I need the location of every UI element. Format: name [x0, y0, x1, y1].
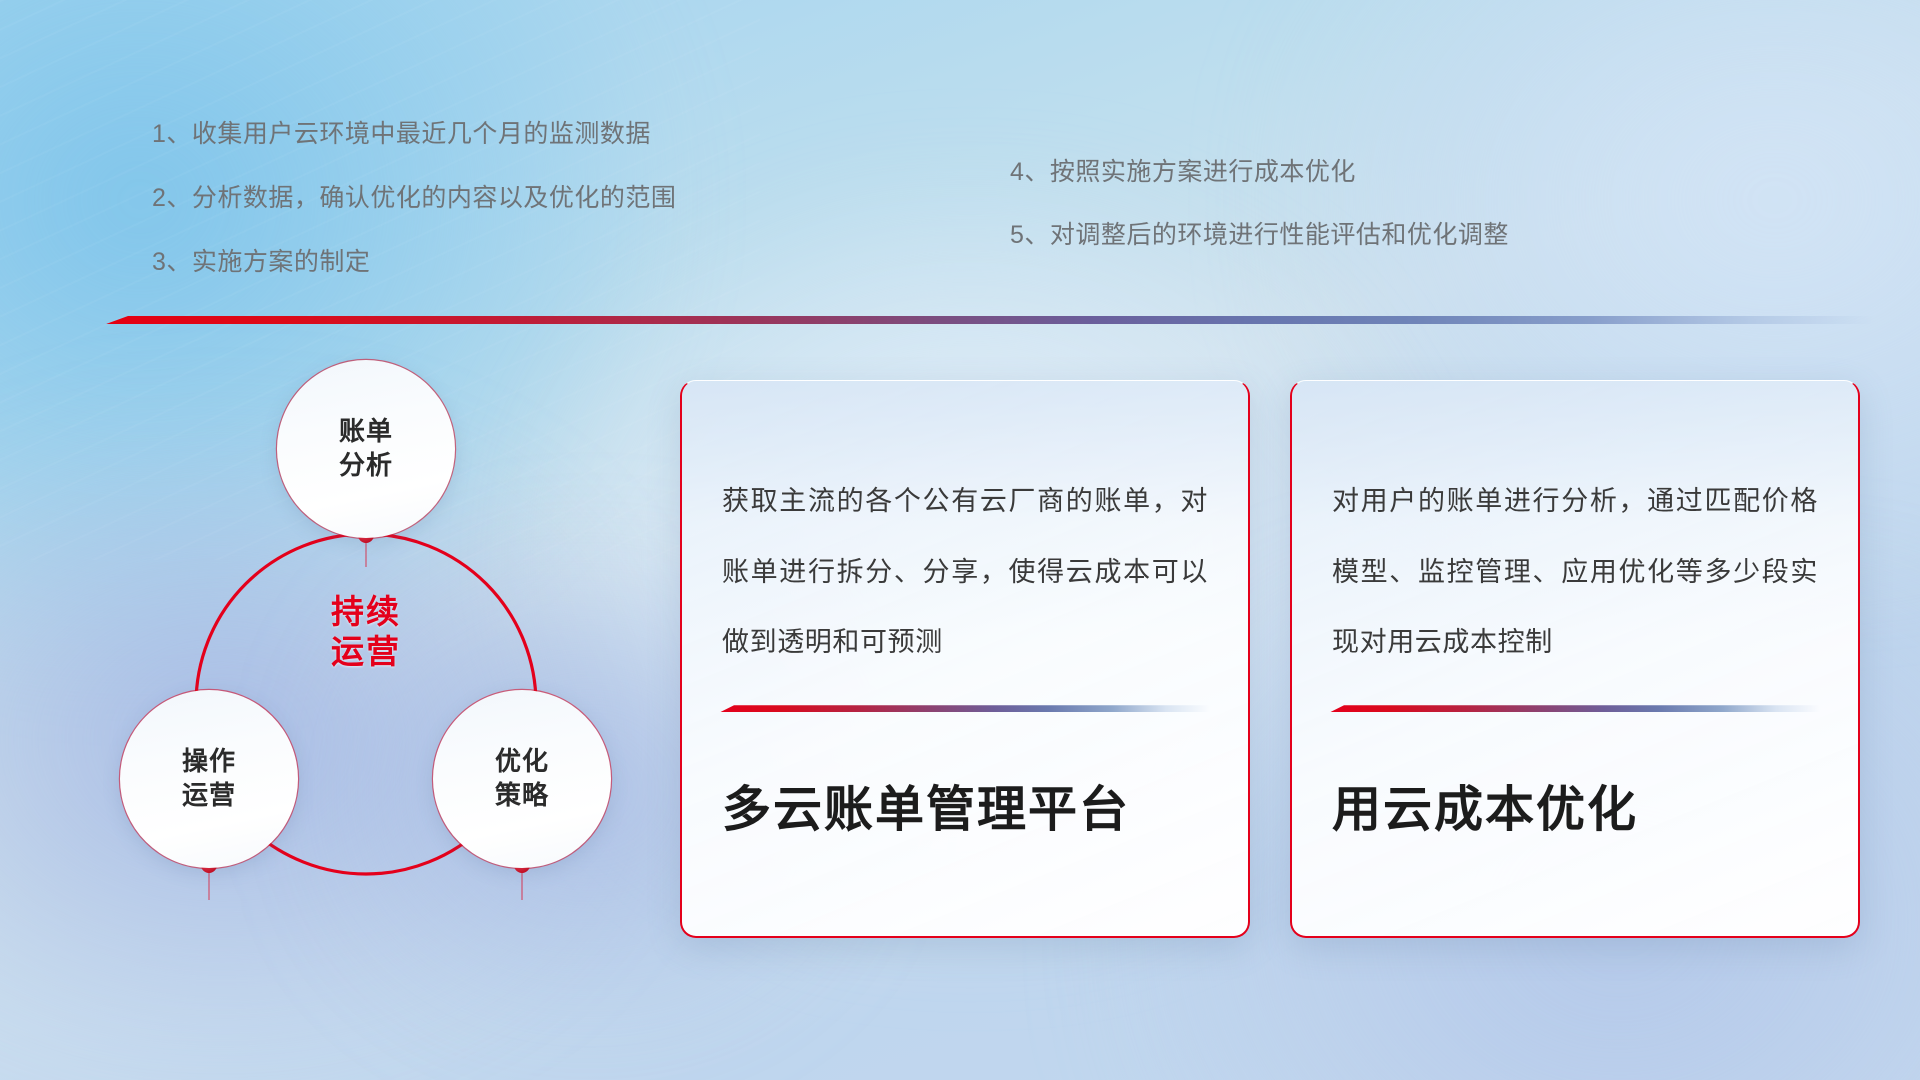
- section-divider: [106, 316, 1874, 324]
- info-card-title: 多云账单管理平台: [722, 784, 1208, 838]
- venn-diagram: 账单 分析 操作 运营 优化 策略 持续 运营: [100, 352, 660, 952]
- steps-list-left: 1、收集用户云环境中最近几个月的监测数据 2、分析数据，确认优化的内容以及优化的…: [152, 122, 676, 314]
- venn-bubble-operations[interactable]: 操作 运营: [120, 690, 298, 868]
- slide-content: 1、收集用户云环境中最近几个月的监测数据 2、分析数据，确认优化的内容以及优化的…: [0, 0, 1920, 1080]
- venn-bubble-label-line1: 账单: [339, 415, 393, 449]
- step-item: 1、收集用户云环境中最近几个月的监测数据: [152, 122, 676, 147]
- info-card-body: 获取主流的各个公有云厂商的账单，对账单进行拆分、分享，使得云成本可以做到透明和可…: [722, 466, 1208, 678]
- venn-bubble-optimization[interactable]: 优化 策略: [433, 690, 611, 868]
- info-card-rule: [720, 705, 1210, 712]
- venn-bubble-label-line2: 策略: [495, 779, 549, 813]
- venn-bubble-label-line2: 分析: [339, 449, 393, 483]
- venn-bubble-bill-analysis[interactable]: 账单 分析: [277, 360, 455, 538]
- venn-center-line1: 持续: [331, 592, 401, 632]
- step-item: 4、按照实施方案进行成本优化: [1010, 160, 1509, 185]
- venn-bubble-label-line1: 操作: [182, 745, 236, 779]
- info-card-rule: [1330, 705, 1820, 712]
- step-item: 3、实施方案的制定: [152, 250, 676, 275]
- info-card-body: 对用户的账单进行分析，通过匹配价格模型、监控管理、应用优化等多少段实现对用云成本…: [1332, 466, 1818, 678]
- step-item: 5、对调整后的环境进行性能评估和优化调整: [1010, 223, 1509, 248]
- step-item: 2、分析数据，确认优化的内容以及优化的范围: [152, 186, 676, 211]
- steps-list-right: 4、按照实施方案进行成本优化 5、对调整后的环境进行性能评估和优化调整: [1010, 160, 1509, 286]
- info-card-title: 用云成本优化: [1332, 784, 1818, 838]
- venn-center-label: 持续 运营: [277, 567, 455, 697]
- venn-bubble-label-line1: 优化: [495, 745, 549, 779]
- info-card-cloud-cost-optimization[interactable]: 对用户的账单进行分析，通过匹配价格模型、监控管理、应用优化等多少段实现对用云成本…: [1290, 380, 1860, 938]
- venn-center-line2: 运营: [331, 632, 401, 672]
- info-card-multi-cloud-billing[interactable]: 获取主流的各个公有云厂商的账单，对账单进行拆分、分享，使得云成本可以做到透明和可…: [680, 380, 1250, 938]
- venn-bubble-label-line2: 运营: [182, 779, 236, 813]
